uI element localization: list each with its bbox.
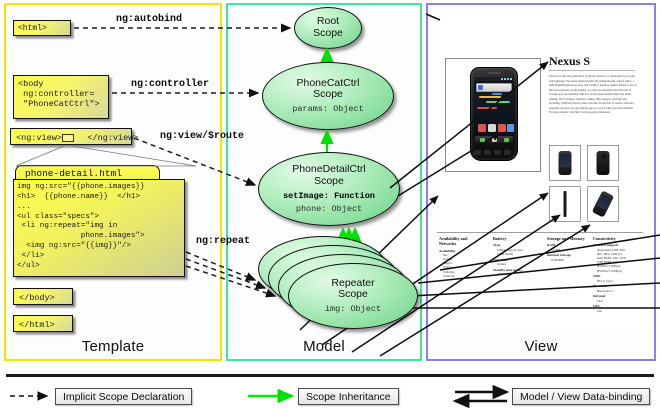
view-page-description: Nexus S is the next generation of Nexus … [549,74,637,115]
spec-table-divider [437,232,643,233]
phone-statusbar [474,77,514,81]
app-icon-1 [478,124,486,132]
phone-button-row [474,149,514,157]
app-icon-4 [507,124,514,132]
view-rendered-page: Nexus S Nexus S is the next generation o… [437,14,643,329]
view-page-title: Nexus S [549,54,590,69]
scope-phonecatctrl: PhoneCatCtrl Scope params: Object [262,62,394,130]
phone-search-widget [476,83,512,92]
phone-screen [474,77,514,143]
legend-label-model-view-data-binding: Model / View Data-binding [512,388,650,405]
ng-view-placeholder-icon [62,134,74,142]
app-icon-2 [488,124,496,132]
phone-app-row [475,124,513,135]
view-title-divider [549,70,635,71]
spec-column-availability: Availability and Networks Availability M… [439,236,485,278]
legend-label-implicit-scope-declaration: Implicit Scope Declaration [55,388,192,405]
legend-label-scope-inheritance: Scope Inheritance [298,388,399,405]
scope-repeater: Repeater Scope img: Object [288,263,418,329]
diagram-canvas: <html> <body ng:controller= "PhoneCatCtr… [0,0,660,420]
dock-icon-3 [504,138,509,142]
scope-root: Root Scope [294,7,362,49]
template-html-close-tag: </html> [13,315,73,332]
wallpaper-stripe-4 [492,93,502,95]
phone-speaker [487,72,501,74]
phone-dock [475,136,513,143]
scope-phonedetailctrl-prop-phone: phone: Object [296,204,362,214]
label-ng-autobind: ng:autobind [116,14,182,25]
scope-phonecatctrl-title: PhoneCatCtrl Scope [296,78,359,102]
scope-phonecatctrl-prop-params: params: Object [292,104,363,114]
label-ng-controller: ng:controller [131,79,209,90]
column-label-view: View [426,338,656,355]
view-thumbnail-phone-back[interactable] [587,145,619,181]
legend-double-arrow-icon [455,392,507,401]
scope-root-title: Root Scope [313,16,343,40]
template-body-open-tag: <body ng:controller= "PhoneCatCtrl"> [13,75,109,119]
dock-icon-2 [492,138,497,142]
scope-phonedetailctrl-title: PhoneDetailCtrl Scope [292,164,366,188]
template-html-open-tag: <html> [13,20,71,36]
view-thumbnail-phone-side[interactable] [549,186,581,222]
view-thumbnail-phone-tilted[interactable] [587,186,619,222]
dock-icon-1 [480,138,485,142]
scope-phonedetailctrl: PhoneDetailCtrl Scope setImage: Function… [258,152,400,226]
template-detail-code: img ng:src="{{phone.images}} <h1> {{phon… [13,179,185,277]
wallpaper-stripe-1 [479,96,501,98]
template-detail-file-label: phone-detail.html [15,165,160,180]
view-thumbnail-phone-front[interactable] [549,145,581,181]
wallpaper-stripe-3 [477,107,497,109]
template-body-close-tag: </body> [13,288,73,305]
view-hero-image-frame [445,58,541,172]
label-ng-view-route: ng:view/$route [160,131,244,142]
scope-repeater-title: Repeater Scope [331,278,374,302]
spec-column-battery: Battery Type Lithium Ion (Li-Ion) (1500 … [493,236,541,276]
phone-front-image [470,67,518,161]
app-icon-3 [498,124,506,132]
column-label-template: Template [4,338,222,355]
legend-divider [6,374,654,377]
spec-column-connectivity: Connectivity Network Support Quad-band G… [593,236,641,313]
label-ng-repeat: ng:repeat [196,236,250,247]
scope-phonedetailctrl-prop-setimage: setImage: Function [283,191,375,201]
scope-repeater-prop-img: img: Object [325,304,381,314]
wallpaper-stripe-2 [486,101,510,103]
spec-column-storage: Storage and Memory RAM 512MB Internal St… [547,236,591,262]
view-spec-table: Availability and Networks Availability M… [437,232,643,324]
column-label-model: Model [226,338,422,355]
